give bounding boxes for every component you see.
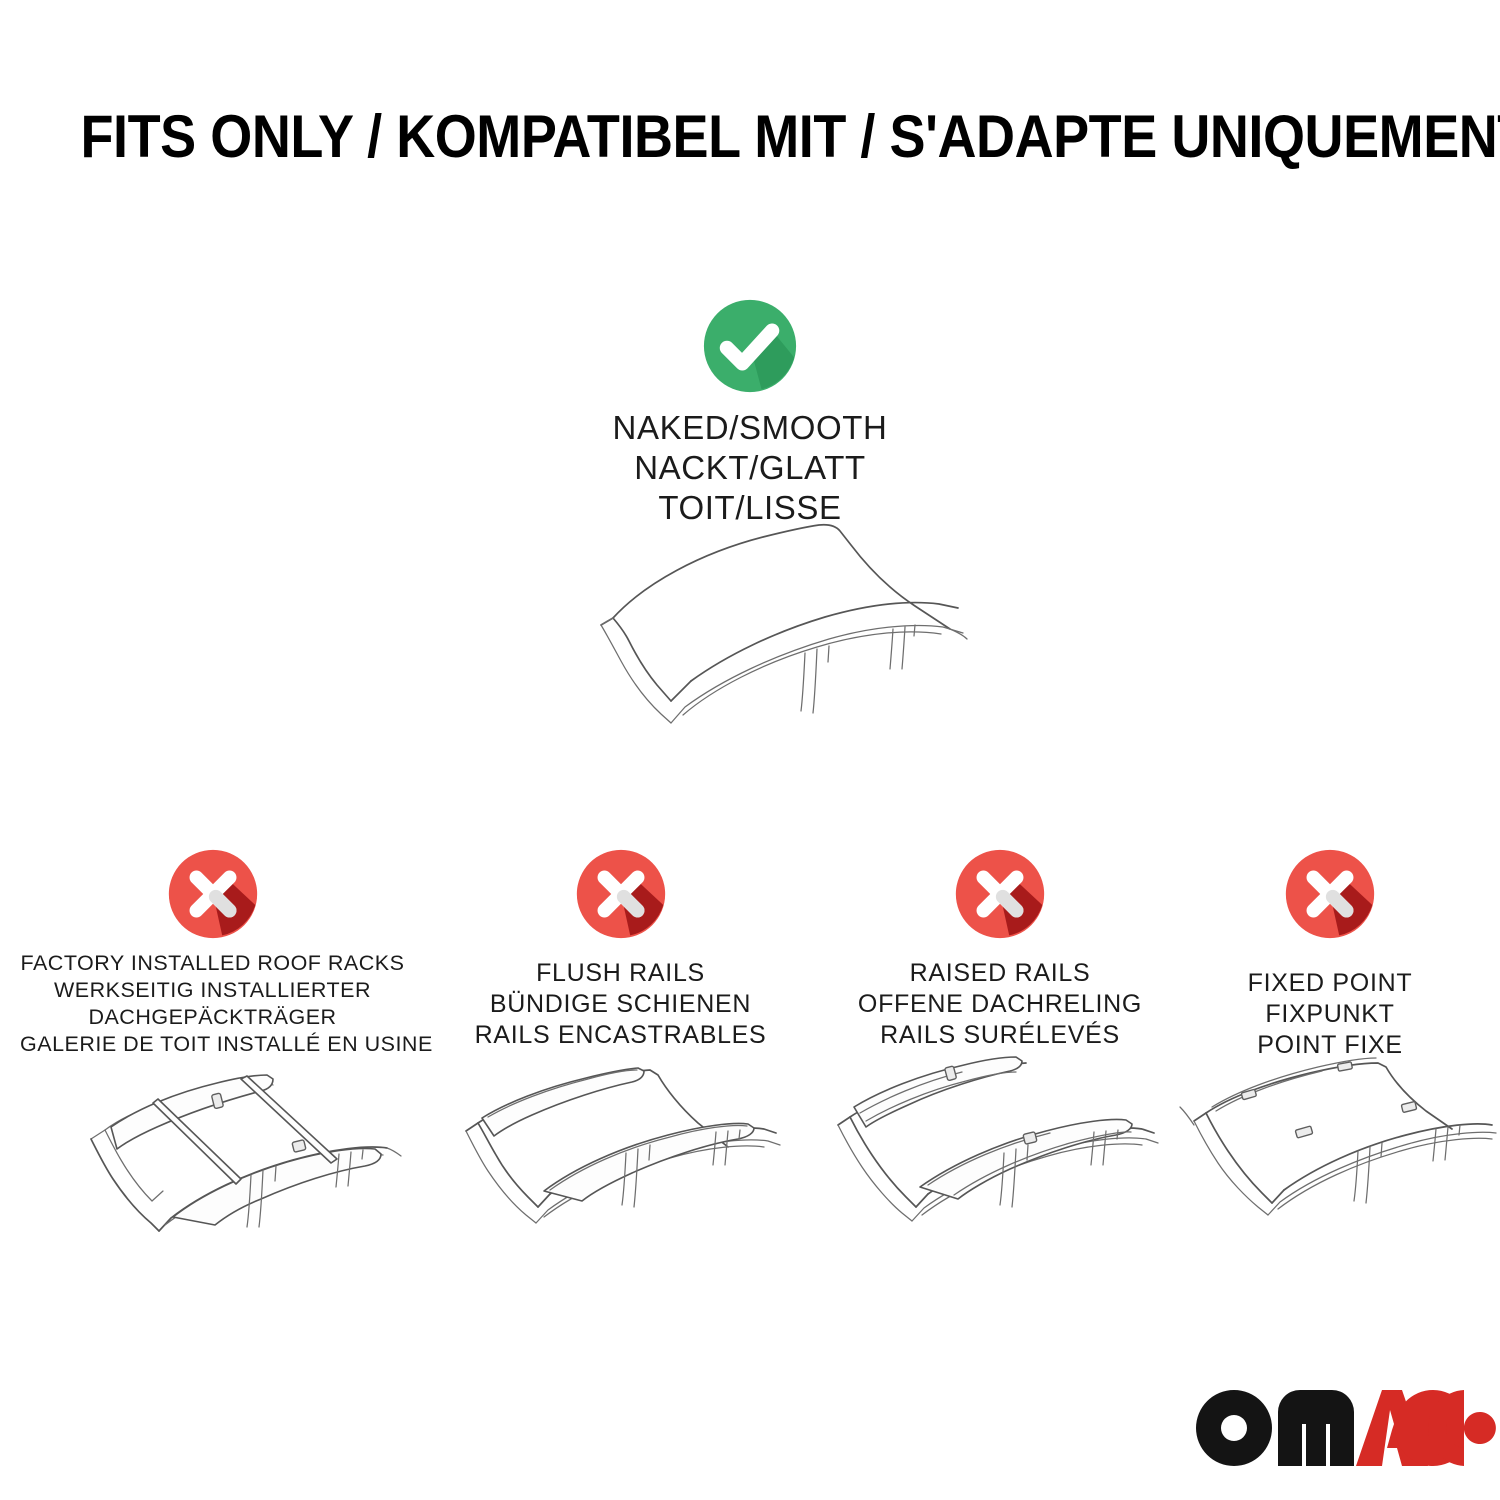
- incompatible-label-2-de: BÜNDIGE SCHIENEN: [433, 989, 808, 1020]
- car-roof-flush-rails-drawing: [440, 1055, 810, 1290]
- x-circle-icon: [575, 848, 667, 940]
- car-roof-flush-rails-illustration: [440, 1055, 810, 1290]
- check-circle-icon: [702, 298, 798, 394]
- car-roof-raised-rails-illustration: [828, 1055, 1198, 1290]
- omac-logo: [1196, 1384, 1464, 1470]
- incompatible-item-raised-rails: RAISED RAILS OFFENE DACHRELING RAILS SUR…: [815, 848, 1185, 1051]
- x-circle-icon: [1284, 848, 1376, 940]
- incompatible-label-1-de2: DACHGEPÄCKTRÄGER: [20, 1004, 405, 1031]
- omac-letter-o: [1196, 1390, 1272, 1466]
- incompatible-label-4-de: FIXPUNKT: [1185, 999, 1475, 1030]
- incompatible-labels-4: FIXED POINT FIXPUNKT POINT FIXE: [1185, 968, 1475, 1061]
- incompatible-badge-4: [1185, 848, 1475, 940]
- header: FITS ONLY / KOMPATIBEL MIT / S'ADAPTE UN…: [0, 104, 1500, 170]
- incompatible-label-2-fr: RAILS ENCASTRABLES: [433, 1020, 808, 1051]
- car-roof-naked-smooth-drawing: [495, 505, 1035, 805]
- incompatible-badge-2: [433, 848, 808, 940]
- car-roof-factory-racks-drawing: [45, 1055, 435, 1290]
- compatible-label-en: NAKED/SMOOTH: [510, 408, 990, 448]
- incompatible-item-flush-rails: FLUSH RAILS BÜNDIGE SCHIENEN RAILS ENCAS…: [433, 848, 808, 1051]
- incompatible-label-3-fr: RAILS SURÉLEVÉS: [815, 1020, 1185, 1051]
- car-roof-factory-racks-illustration: [45, 1055, 435, 1290]
- car-roof-fixed-point-illustration: [1180, 1055, 1500, 1290]
- omac-letter-m: [1278, 1390, 1354, 1466]
- incompatible-labels-1: FACTORY INSTALLED ROOF RACKS WERKSEITIG …: [20, 950, 405, 1058]
- incompatible-label-4-en: FIXED POINT: [1185, 968, 1475, 999]
- page-title: FITS ONLY / KOMPATIBEL MIT / S'ADAPTE UN…: [81, 104, 1500, 170]
- incompatible-item-fixed-point: FIXED POINT FIXPUNKT POINT FIXE: [1185, 848, 1475, 1061]
- compatible-roof-type: NAKED/SMOOTH NACKT/GLATT TOIT/LISSE: [510, 298, 990, 528]
- incompatible-badge-3: [815, 848, 1185, 940]
- car-roof-fixed-point-drawing: [1180, 1055, 1500, 1290]
- incompatible-label-3-en: RAISED RAILS: [815, 958, 1185, 989]
- x-circle-icon: [954, 848, 1046, 940]
- omac-logo-mark: [1196, 1384, 1464, 1470]
- compatible-label-de: NACKT/GLATT: [510, 448, 990, 488]
- incompatible-label-1-en: FACTORY INSTALLED ROOF RACKS: [20, 950, 405, 977]
- compatible-badge: [510, 298, 990, 394]
- car-roof-naked-smooth-illustration: [495, 505, 1035, 805]
- incompatible-label-1-fr: GALERIE DE TOIT INSTALLÉ EN USINE: [20, 1031, 405, 1058]
- incompatible-item-factory-installed-roof-racks: FACTORY INSTALLED ROOF RACKS WERKSEITIG …: [20, 848, 405, 1058]
- incompatible-labels-3: RAISED RAILS OFFENE DACHRELING RAILS SUR…: [815, 958, 1185, 1051]
- x-circle-icon: [167, 848, 259, 940]
- incompatible-label-2-en: FLUSH RAILS: [433, 958, 808, 989]
- car-roof-raised-rails-drawing: [828, 1055, 1198, 1290]
- incompatible-labels-2: FLUSH RAILS BÜNDIGE SCHIENEN RAILS ENCAS…: [433, 958, 808, 1051]
- incompatible-badge-1: [20, 848, 405, 940]
- incompatible-label-1-de1: WERKSEITIG INSTALLIERTER: [20, 977, 405, 1004]
- incompatible-label-3-de: OFFENE DACHRELING: [815, 989, 1185, 1020]
